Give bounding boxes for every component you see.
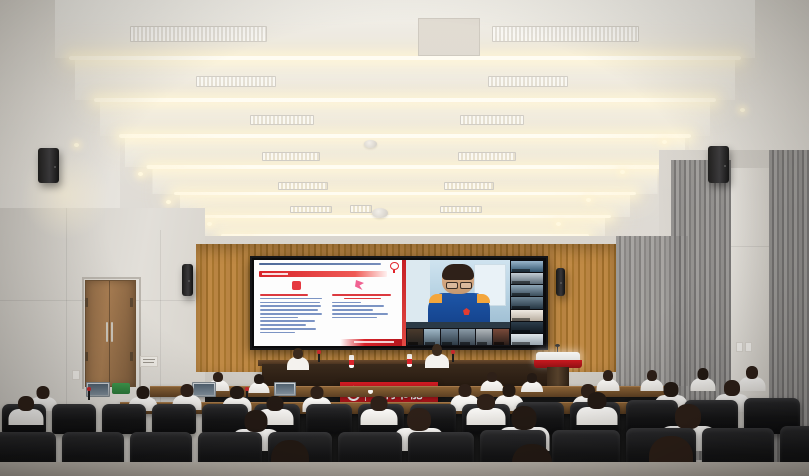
air-vent (460, 115, 524, 125)
light-switch[interactable] (745, 342, 752, 352)
downlight (138, 172, 143, 176)
participant-thumbnail[interactable] (511, 273, 543, 284)
air-vent (440, 206, 482, 213)
light-switch[interactable] (736, 342, 743, 352)
person-head (647, 370, 657, 381)
table-microphone (452, 352, 454, 362)
presentation-slide (254, 260, 402, 346)
speaker-hair (442, 264, 474, 280)
participant-thumbnail[interactable] (511, 297, 543, 308)
air-vent (458, 152, 516, 161)
chair (102, 404, 146, 434)
audience-member (576, 392, 618, 424)
person-body (9, 409, 44, 425)
ceiling-band (125, 136, 685, 167)
conference-room-photo: 中材节能 (0, 0, 809, 476)
door-handle[interactable] (111, 322, 113, 342)
person-head (698, 368, 709, 380)
floor (0, 462, 809, 476)
smoke-detector-icon (372, 208, 388, 218)
speaker-glow (20, 150, 110, 240)
wall-speaker-left (38, 148, 59, 183)
audience-member (8, 396, 44, 424)
table-microphone (318, 352, 320, 362)
person-head (18, 396, 34, 411)
audience-member (690, 368, 716, 390)
chair (306, 404, 352, 434)
participant-filmstrip[interactable] (406, 328, 510, 346)
active-speaker-video (406, 260, 510, 328)
air-vent (262, 152, 320, 161)
screen-surface (254, 260, 544, 346)
slide-section-bar (259, 271, 387, 277)
water-bottle (407, 354, 412, 367)
air-vent (488, 76, 568, 87)
video-bg-left (406, 260, 430, 328)
participant-thumbnail[interactable] (441, 329, 457, 345)
slide-icon-left (292, 281, 301, 290)
downlight (662, 140, 667, 144)
slide-logo-icon (390, 262, 398, 271)
presenter-head (293, 348, 303, 359)
person-head (311, 386, 324, 399)
participant-thumbnail[interactable] (424, 329, 440, 345)
downlight (74, 143, 79, 147)
downlight (740, 108, 745, 112)
uniform-shoulder-left (429, 294, 442, 303)
air-vent (130, 26, 267, 42)
ceiling-band (152, 167, 657, 194)
audience-member (360, 396, 398, 424)
slide-icon-right (354, 280, 364, 290)
participant-thumbnail[interactable] (511, 261, 543, 272)
door-handle[interactable] (106, 322, 108, 342)
person-head (245, 410, 268, 432)
person-head (664, 382, 679, 397)
slide-title (259, 263, 386, 268)
wall-seam (160, 230, 161, 430)
chair (52, 404, 96, 434)
eyeglasses-left-lens-icon (446, 282, 458, 289)
downlight (556, 222, 561, 226)
person-head (746, 366, 758, 379)
led-video-wall (250, 256, 548, 350)
led-strip (199, 215, 611, 218)
door-hinge (130, 298, 133, 307)
presenter-body (425, 354, 449, 368)
air-vent (196, 76, 276, 87)
presenter-left (286, 348, 310, 370)
air-vent (250, 115, 314, 125)
wall-speaker-right (708, 146, 729, 183)
wall-speaker-left-front (182, 264, 193, 296)
participant-thumbnail[interactable] (476, 329, 492, 345)
person-body (361, 409, 398, 425)
air-vent (290, 206, 332, 213)
laptop[interactable] (274, 382, 296, 396)
water-bottle (349, 355, 354, 368)
air-vent (278, 182, 328, 190)
door-hinge (85, 298, 88, 307)
person-head (512, 406, 537, 430)
person-body (577, 407, 618, 425)
downlight (166, 200, 171, 204)
person-head (477, 394, 495, 410)
person-head (230, 386, 244, 399)
participant-thumbnail[interactable] (407, 329, 423, 345)
person-head (181, 384, 194, 397)
presenter-head (432, 344, 442, 356)
led-strip (119, 134, 691, 138)
participant-thumbnail[interactable] (511, 310, 543, 321)
led-strip (174, 192, 636, 195)
wall-outlet (72, 370, 80, 380)
person-head (527, 373, 537, 383)
person-head (254, 374, 264, 384)
door-seam (109, 281, 110, 384)
projector-plate (350, 205, 372, 213)
downlight (207, 222, 212, 226)
slide-footer-bar (340, 339, 402, 346)
led-strip (146, 165, 663, 169)
acoustic-ribbed-panel (616, 236, 688, 386)
chair (152, 404, 196, 434)
downlight (620, 170, 625, 174)
participant-thumbnail[interactable] (511, 285, 543, 296)
participant-thumbnail[interactable] (459, 329, 475, 345)
wall-speaker-right-front (556, 268, 565, 296)
person-head (603, 370, 613, 381)
participant-thumbnail[interactable] (511, 334, 543, 345)
ceiling-band (75, 58, 735, 100)
participant-rail[interactable] (510, 260, 544, 346)
person-head (487, 372, 497, 382)
door-hinge (85, 352, 88, 361)
person-head (267, 396, 284, 411)
air-vent (444, 182, 494, 190)
door-sign-plaque (140, 356, 158, 367)
ceiling-band (180, 194, 630, 217)
participant-thumbnail[interactable] (493, 329, 509, 345)
air-vent (492, 26, 639, 42)
ceiling-access-hatch (418, 18, 480, 56)
person-head (407, 408, 431, 431)
person-head (213, 372, 223, 382)
slide-text-column-right (332, 294, 396, 320)
participant-thumbnail[interactable] (511, 322, 543, 333)
led-strip (69, 56, 741, 60)
slide-text-column-left (260, 294, 322, 336)
person-head (588, 392, 607, 409)
wall-seam (731, 246, 769, 247)
table-microphone (88, 389, 90, 400)
person-head (675, 404, 701, 429)
person-head (137, 386, 150, 399)
eyeglasses-right-lens-icon (460, 282, 472, 289)
ceiling-band (100, 100, 710, 136)
door-hinge (130, 352, 133, 361)
presenter-right (424, 344, 450, 368)
person-head (371, 396, 388, 411)
smoke-detector-icon (364, 140, 377, 148)
downlight (586, 198, 591, 202)
person-head (724, 380, 740, 396)
led-strip (94, 98, 716, 102)
